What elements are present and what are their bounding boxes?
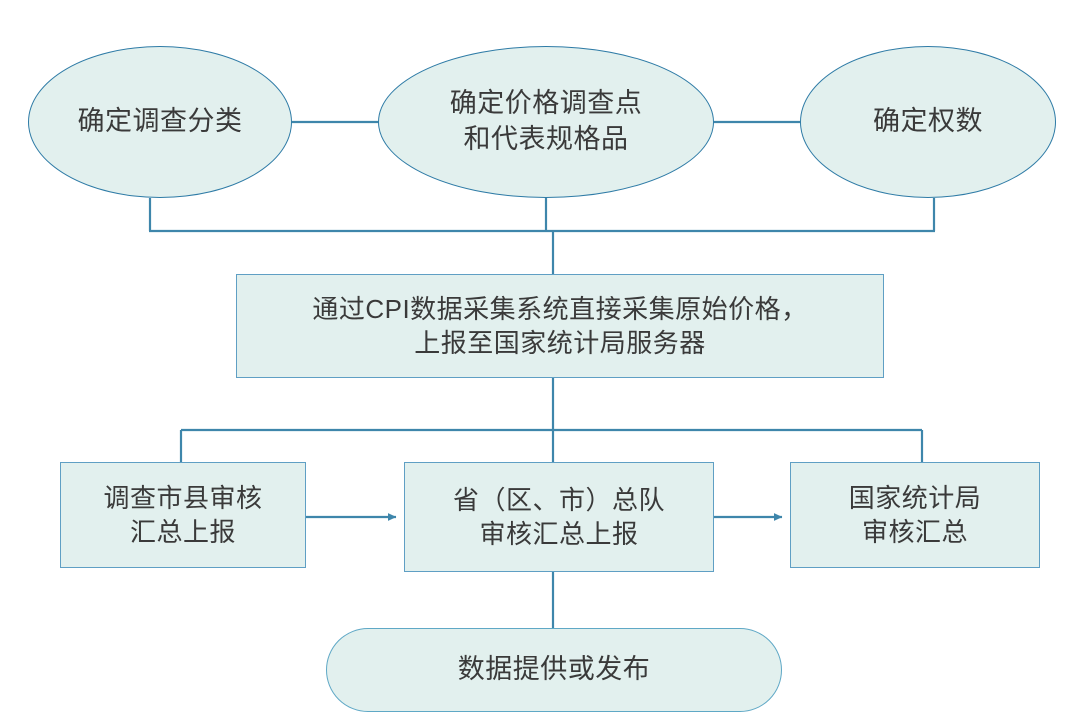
node-determine-weights[interactable]: 确定权数 [800, 46, 1056, 198]
node-determine-survey-classification[interactable]: 确定调查分类 [28, 46, 292, 198]
node-cpi-data-collection[interactable]: 通过CPI数据采集系统直接采集原始价格， 上报至国家统计局服务器 [236, 274, 884, 378]
node-city-county-review[interactable]: 调查市县审核 汇总上报 [60, 462, 306, 568]
flowchart-canvas: 确定调查分类 确定价格调查点 和代表规格品 确定权数 通过CPI数据采集系统直接… [0, 0, 1080, 723]
node-determine-price-survey-points[interactable]: 确定价格调查点 和代表规格品 [378, 46, 714, 198]
node-national-bureau-review[interactable]: 国家统计局 审核汇总 [790, 462, 1040, 568]
node-province-review[interactable]: 省（区、市）总队 审核汇总上报 [404, 462, 714, 572]
node-data-provision-or-publication[interactable]: 数据提供或发布 [326, 628, 782, 712]
